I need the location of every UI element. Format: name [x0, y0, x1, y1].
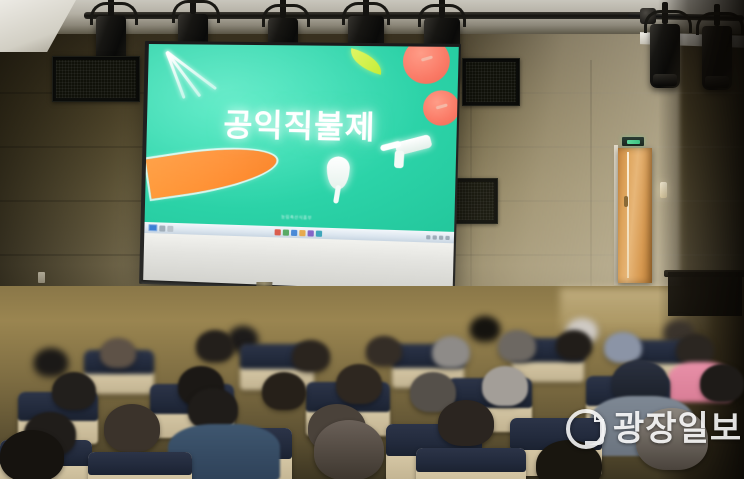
attendee-head: [314, 420, 384, 479]
system-tray[interactable]: [426, 235, 450, 240]
door-handle[interactable]: [624, 196, 628, 207]
light-switch[interactable]: [38, 272, 45, 283]
taskbar-icon[interactable]: [282, 229, 288, 235]
taskbar-icon[interactable]: [290, 229, 296, 235]
watermark-text: 광장일보: [613, 412, 742, 446]
tomato-icon: [402, 44, 450, 84]
taskbar-icon[interactable]: [274, 229, 280, 235]
attendee-head: [0, 430, 64, 479]
attendee-head: [52, 372, 96, 410]
attendee-head: [556, 330, 592, 360]
attendee-head: [292, 340, 330, 372]
carrot-icon: [146, 140, 280, 199]
slide-title: 공익직불제: [146, 98, 457, 150]
seat[interactable]: [88, 452, 192, 479]
attendee-head: [498, 330, 536, 362]
attendee-head: [604, 332, 642, 363]
attendee-head: [336, 364, 382, 404]
sprout-icon: [165, 50, 233, 101]
attendee-head: [262, 372, 306, 410]
attendee-head: [700, 364, 744, 402]
attendee-head: [470, 316, 500, 341]
projection-screen: 공익직불제 농림축산식품부: [143, 44, 459, 294]
watermark: 광장일보: [566, 409, 742, 449]
taskbar-icon[interactable]: [315, 230, 321, 236]
g-circle-logo-icon: [566, 409, 606, 449]
auditorium-photo: 공익직불제 농림축산식품부: [0, 0, 744, 479]
taskbar-icon[interactable]: [299, 229, 305, 235]
taskbar-icon[interactable]: [167, 225, 173, 231]
attendee-head: [438, 400, 494, 446]
auditorium-door[interactable]: [618, 148, 652, 283]
attendee-head: [104, 404, 160, 452]
wall-speaker: [52, 56, 140, 102]
attendee-head: [34, 348, 68, 376]
attendee-head: [366, 336, 402, 366]
taskbar-icon[interactable]: [159, 225, 165, 231]
leaf-icon: [346, 48, 385, 75]
attendee-head: [100, 338, 136, 368]
seat[interactable]: [416, 448, 526, 479]
taskbar-icon[interactable]: [307, 230, 313, 236]
start-button-icon[interactable]: [148, 224, 157, 231]
exit-sign: [622, 137, 644, 146]
attendee-head: [432, 336, 470, 368]
wall-speaker: [462, 58, 520, 106]
trowel-icon: [324, 156, 352, 202]
attendee-head: [196, 330, 234, 362]
wall-speaker: [452, 178, 498, 224]
presentation-slide: 공익직불제 농림축산식품부: [145, 44, 459, 232]
attendee-head: [482, 366, 528, 406]
